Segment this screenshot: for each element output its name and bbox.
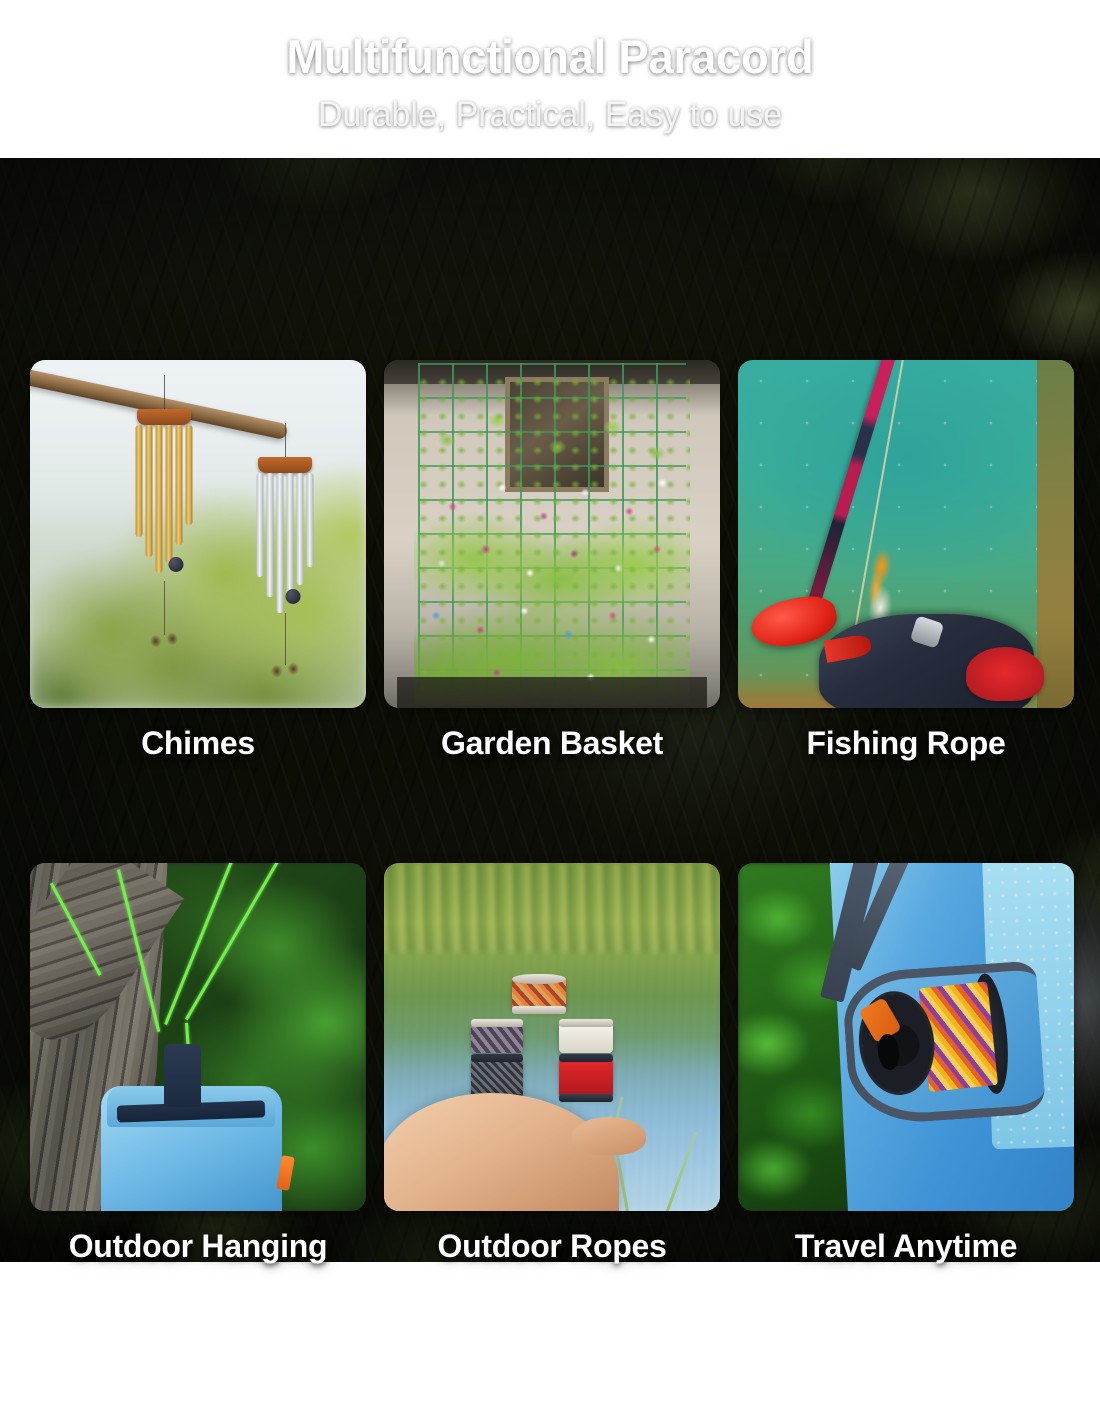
tile-caption: Outdoor Hanging — [30, 1223, 366, 1269]
chime-bead — [285, 589, 300, 604]
feature-tile-travel-anytime: Travel Anytime — [738, 863, 1074, 1269]
chime-wood-top — [137, 409, 191, 425]
photo-fishing-rod — [738, 360, 1074, 708]
photo-wind-chimes — [30, 360, 366, 708]
spool-red — [559, 1058, 613, 1098]
spool-flange — [471, 1019, 523, 1027]
fingers — [572, 1117, 646, 1155]
feature-grid: Chimes Garden Basket — [30, 360, 1070, 1269]
spool-flange — [559, 1019, 613, 1027]
chime-hanging-string — [285, 423, 286, 459]
page-title: Multifunctional Paracord — [19, 32, 1081, 82]
spool-grey — [471, 1058, 523, 1098]
morning-glory-flowers — [414, 464, 690, 701]
background-reeds — [384, 863, 720, 953]
spool-length-badge — [858, 997, 902, 1044]
spool-center-hole — [876, 1034, 900, 1071]
spool-purple-grey — [471, 1023, 523, 1053]
photo-garden-trellis — [384, 360, 720, 708]
tile-caption: Fishing Rope — [738, 720, 1074, 766]
photo-backpack-hanging — [30, 863, 366, 1211]
photo-paracord-spools — [384, 863, 720, 1211]
chime-tubes-gold — [135, 425, 192, 573]
chime-tubes-silver — [256, 473, 313, 613]
spool-flange — [559, 1094, 613, 1102]
spool-flange — [512, 974, 566, 984]
chime-drop-link — [285, 613, 286, 665]
far-bank — [1037, 360, 1074, 708]
planter-pots — [397, 677, 706, 708]
feature-tile-fishing-rope: Fishing Rope — [738, 360, 1074, 766]
paracord-spool-in-pocket — [854, 982, 999, 1100]
header-block: Multifunctional Paracord Durable, Practi… — [0, 32, 1100, 134]
wind-chime-gold — [104, 409, 224, 639]
photo-backpack-pocket — [738, 863, 1074, 1211]
wind-chime-silver — [232, 457, 338, 677]
chime-wood-top — [258, 457, 312, 473]
chime-drop-link — [164, 581, 165, 635]
spool-camo-orange — [512, 978, 566, 1010]
reel-spool-red — [966, 647, 1044, 701]
chime-bead — [168, 557, 183, 572]
tile-caption: Outdoor Ropes — [384, 1223, 720, 1269]
spool-white — [559, 1023, 613, 1053]
chime-butterfly-charm — [148, 629, 180, 651]
tile-caption: Travel Anytime — [738, 1223, 1074, 1269]
product-infographic: Multifunctional Paracord Durable, Practi… — [0, 0, 1100, 1422]
spool-flange — [512, 1006, 566, 1014]
tile-caption: Garden Basket — [384, 720, 720, 766]
spool-flange — [559, 1054, 613, 1062]
feature-tile-outdoor-ropes: Outdoor Ropes — [384, 863, 720, 1269]
spool-flange — [471, 1054, 523, 1062]
feature-tile-garden-basket: Garden Basket — [384, 360, 720, 766]
backpack-haul-loop — [164, 1044, 201, 1107]
chime-hanging-string — [164, 375, 165, 411]
tile-caption: Chimes — [30, 720, 366, 766]
feature-tile-outdoor-hanging: Outdoor Hanging — [30, 863, 366, 1269]
feature-tile-chimes: Chimes — [30, 360, 366, 766]
page-subtitle: Durable, Practical, Easy to use — [17, 96, 1084, 135]
